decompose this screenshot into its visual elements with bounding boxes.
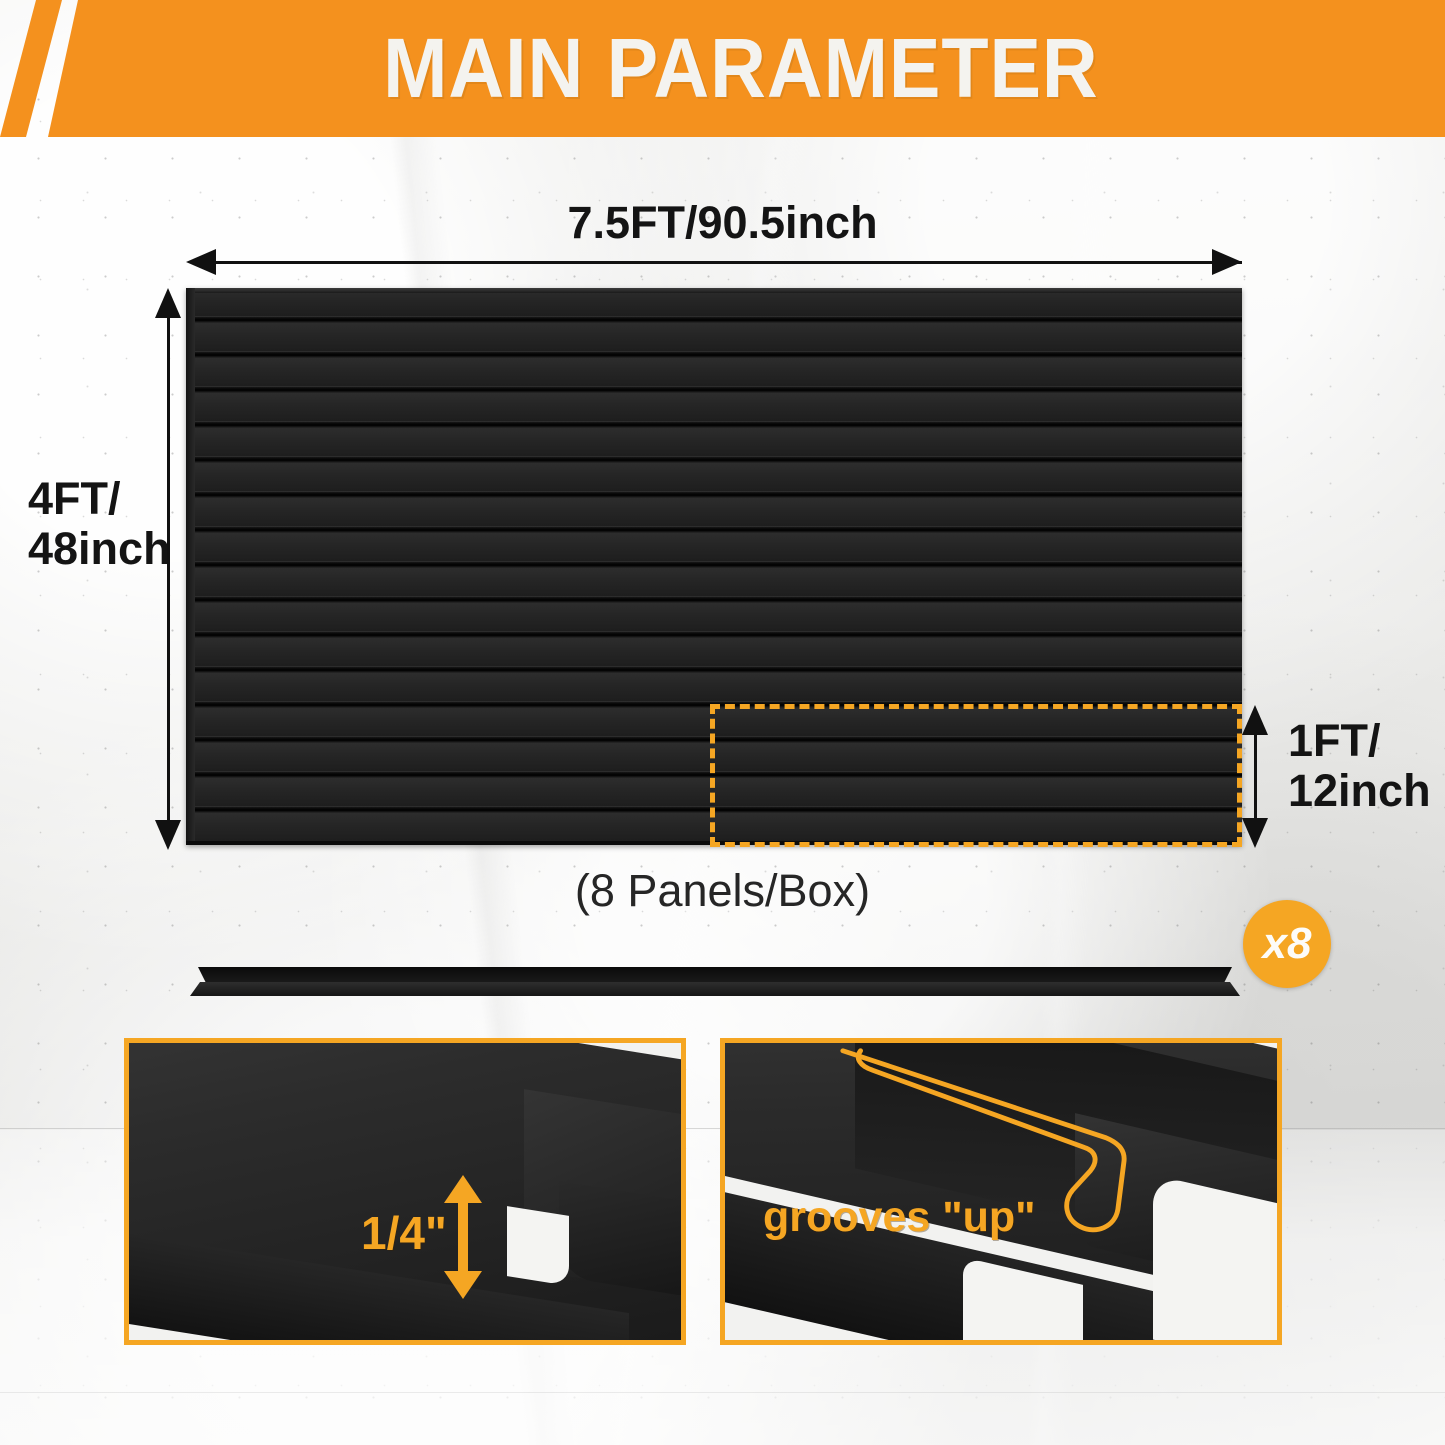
section-label-line2: 12inch	[1288, 765, 1431, 816]
height-arrow-up-icon	[155, 288, 181, 318]
groove-profile-outline-icon	[725, 1043, 1277, 1340]
panel-slat-groove	[186, 666, 1242, 673]
height-dimension-line	[167, 305, 170, 827]
panel-notch-cutout	[507, 1206, 569, 1286]
panel-slat	[186, 358, 1242, 393]
panel-slat-groove	[186, 526, 1242, 533]
header-banner: MAIN PARAMETER	[0, 0, 1445, 137]
orientation-caption: grooves "up"	[763, 1193, 1036, 1242]
panel-slat-groove	[186, 351, 1242, 358]
panel-slat-groove	[186, 456, 1242, 463]
panel-slat-face	[186, 673, 1242, 701]
section-arrow-up-icon	[1242, 705, 1268, 735]
panel-slat-face	[186, 463, 1242, 491]
thickness-caption: 1/4"	[361, 1206, 447, 1260]
panel-edge-lower	[190, 982, 1240, 996]
panel-slat-face	[186, 603, 1242, 631]
panel-slat	[186, 673, 1242, 708]
panel-slat	[186, 428, 1242, 463]
panel-slat-groove	[186, 386, 1242, 393]
panel-slat-face	[186, 533, 1242, 561]
height-label-line1: 4FT/	[28, 473, 121, 524]
width-arrow-right-icon	[1212, 249, 1242, 275]
panel-slat	[186, 533, 1242, 568]
width-dimension-label: 7.5FT/90.5inch	[0, 198, 1445, 248]
detail-photo-orientation: grooves "up"	[720, 1038, 1282, 1345]
panel-slat	[186, 393, 1242, 428]
height-arrow-down-icon	[155, 820, 181, 850]
panel-slat	[186, 638, 1242, 673]
thickness-arrow-down-icon	[444, 1271, 482, 1299]
section-highlight-box	[710, 704, 1242, 847]
detail-photo-thickness: 1/4"	[124, 1038, 686, 1345]
panel-slat-face	[186, 428, 1242, 456]
section-dimension-label: 1FT/12inch	[1288, 716, 1431, 817]
section-dimension-line	[1254, 722, 1257, 826]
thickness-arrow-up-icon	[444, 1175, 482, 1203]
panel-slat-groove	[186, 631, 1242, 638]
panel-slat-face	[186, 568, 1242, 596]
floor-seam	[0, 1392, 1445, 1393]
quantity-badge: x8	[1243, 900, 1331, 988]
section-label-line1: 1FT/	[1288, 715, 1381, 766]
panel-top-edge	[186, 288, 1242, 293]
panel-slat	[186, 568, 1242, 603]
section-arrow-down-icon	[1242, 818, 1268, 848]
panel-slat-groove	[186, 316, 1242, 323]
panel-slat-groove	[186, 596, 1242, 603]
panel-slat-face	[186, 323, 1242, 351]
panel-slat	[186, 498, 1242, 533]
panels-per-box-label: (8 Panels/Box)	[0, 865, 1445, 917]
infographic-stage: MAIN PARAMETER 7.5FT/90.5inch 4FT/48inch…	[0, 0, 1445, 1445]
panel-slat	[186, 463, 1242, 498]
panel-edge-upper	[198, 967, 1232, 983]
panel-slat-groove	[186, 491, 1242, 498]
width-arrow-left-icon	[186, 249, 216, 275]
width-dimension-line	[200, 261, 1242, 264]
height-dimension-label: 4FT/48inch	[28, 474, 171, 575]
panel-edge-view	[190, 967, 1240, 997]
panel-slat-face	[186, 358, 1242, 386]
panel-slat-face	[186, 393, 1242, 421]
panel-slat	[186, 288, 1242, 323]
panel-slat-groove	[186, 561, 1242, 568]
panel-slat	[186, 323, 1242, 358]
panel-slat-groove	[186, 421, 1242, 428]
panel-slat-face	[186, 638, 1242, 666]
panel-slat-face	[186, 498, 1242, 526]
panel-slat	[186, 603, 1242, 638]
panel-left-edge	[186, 288, 195, 845]
height-label-line2: 48inch	[28, 523, 171, 574]
page-title: MAIN PARAMETER	[58, 0, 1387, 137]
